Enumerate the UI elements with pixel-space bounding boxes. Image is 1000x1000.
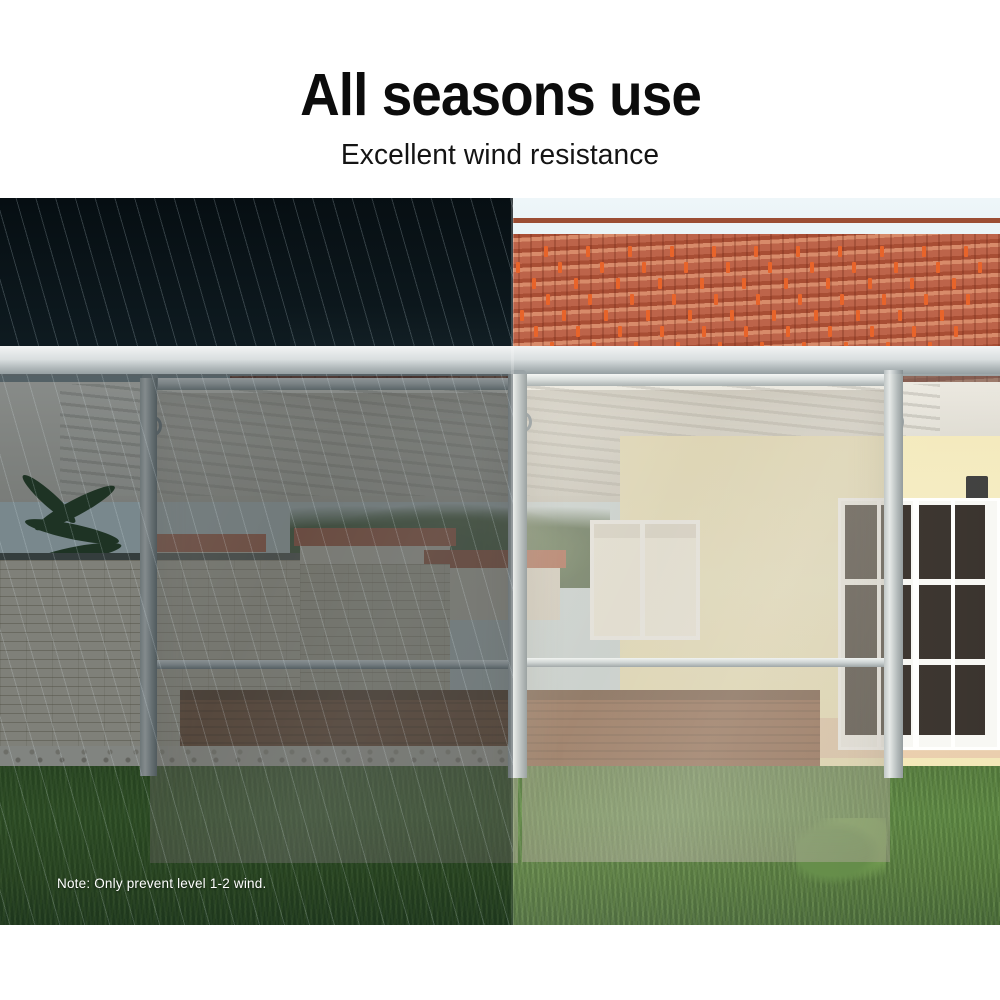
roof-clip — [604, 310, 608, 321]
roof-clip — [742, 278, 746, 289]
sunny-side-tint — [513, 374, 1000, 925]
roof-clip — [922, 246, 926, 257]
roof-clip — [754, 246, 758, 257]
roof-clip — [516, 262, 520, 273]
roof-clip — [898, 310, 902, 321]
roof-clip — [630, 294, 634, 305]
roof-clip — [868, 278, 872, 289]
roof-clip — [534, 326, 538, 337]
page-subtitle: Excellent wind resistance — [341, 141, 659, 170]
roof-clip — [702, 326, 706, 337]
roof-clip — [924, 294, 928, 305]
roof-clip — [880, 246, 884, 257]
roof-clip — [952, 278, 956, 289]
roof-clip — [786, 326, 790, 337]
roof-clip — [726, 262, 730, 273]
roof-clip — [810, 262, 814, 273]
roof-clip — [828, 326, 832, 337]
roof-clip — [936, 262, 940, 273]
roof-clip — [730, 310, 734, 321]
roof-clip — [618, 326, 622, 337]
header-band: All seasons use Excellent wind resistanc… — [0, 0, 1000, 198]
roof-clip — [714, 294, 718, 305]
roof-clip — [954, 326, 958, 337]
roof-clip — [672, 294, 676, 305]
roof-clip — [966, 294, 970, 305]
roof-clip — [964, 246, 968, 257]
roof-clip — [910, 278, 914, 289]
roof-clip — [798, 294, 802, 305]
roof-clip — [856, 310, 860, 321]
roof-clip — [784, 278, 788, 289]
roof-clip — [744, 326, 748, 337]
scene-photo — [0, 198, 1000, 925]
roof-clip — [852, 262, 856, 273]
page-title: All seasons use — [300, 66, 701, 125]
wind-note: Note: Only prevent level 1-2 wind. — [57, 876, 266, 891]
roof-clip — [544, 246, 548, 257]
roof-clip — [712, 246, 716, 257]
roof-clip — [520, 310, 524, 321]
roof-clip — [688, 310, 692, 321]
roof-clip — [840, 294, 844, 305]
roof-clip — [600, 262, 604, 273]
roof-clip — [642, 262, 646, 273]
roof-clip — [660, 326, 664, 337]
roof-clip — [756, 294, 760, 305]
rain-streaks-foreground — [0, 374, 513, 925]
roof-clip — [796, 246, 800, 257]
roof-clip — [882, 294, 886, 305]
weather-split-divider — [511, 198, 514, 925]
roof-clip — [894, 262, 898, 273]
roof-clip — [558, 262, 562, 273]
roof-clip — [646, 310, 650, 321]
product-feature-image: All seasons use Excellent wind resistanc… — [0, 0, 1000, 1000]
roof-clip — [546, 294, 550, 305]
roof-clip — [670, 246, 674, 257]
roof-clip — [576, 326, 580, 337]
roof-clip — [588, 294, 592, 305]
roof-clip — [628, 246, 632, 257]
roof-clip — [870, 326, 874, 337]
roof-clip — [684, 262, 688, 273]
roof-clip — [562, 310, 566, 321]
roof-clip — [814, 310, 818, 321]
roof-clip — [978, 262, 982, 273]
roof-clip — [940, 310, 944, 321]
roof-clip — [772, 310, 776, 321]
pergola-top-beam — [0, 346, 1000, 376]
roof-clip — [574, 278, 578, 289]
roof-clip — [700, 278, 704, 289]
roof-clip — [658, 278, 662, 289]
roof-clip — [912, 326, 916, 337]
roof-clip — [768, 262, 772, 273]
roof-clip — [586, 246, 590, 257]
roof-clip — [826, 278, 830, 289]
roof-clip — [838, 246, 842, 257]
roof-clip — [532, 278, 536, 289]
roof-clip — [616, 278, 620, 289]
